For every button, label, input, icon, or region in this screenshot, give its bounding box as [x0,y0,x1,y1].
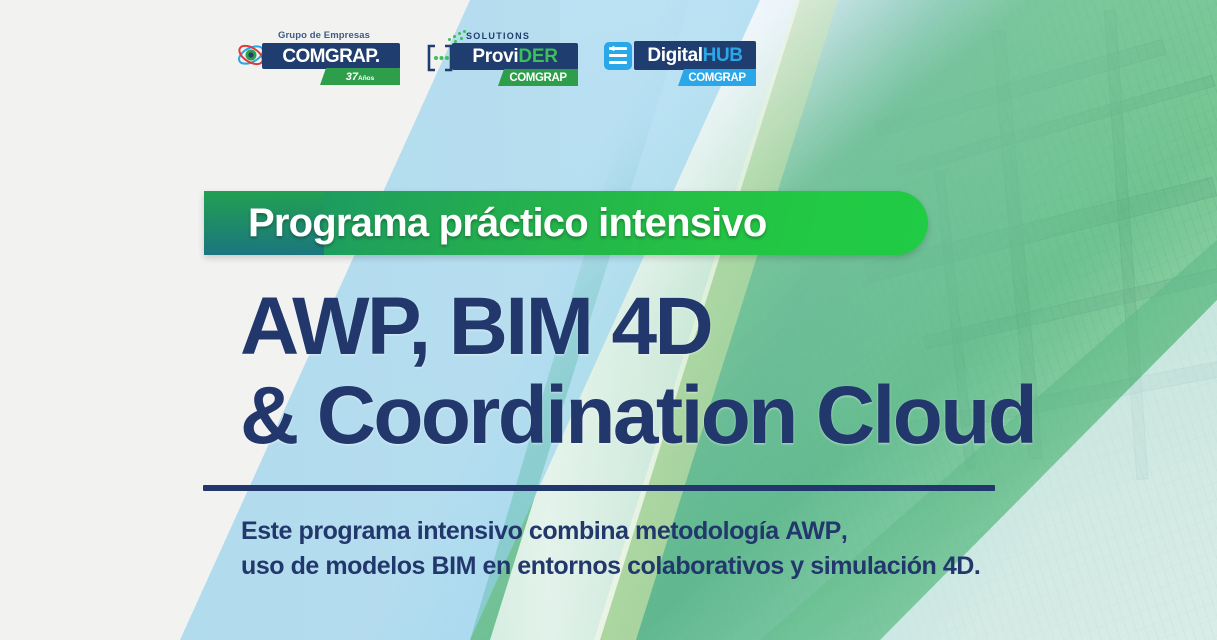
subtitle-l1-c: , [841,517,848,545]
logo-provider-badge-text: COMGRAP [509,72,566,84]
subtitle-l1-highlight: AWP [785,517,841,545]
logo-comgrap-tagline: Grupo de Empresas [278,30,370,41]
subtitle-line-1: Este programa intensivo combina metodolo… [241,514,980,549]
logo-provider-wordmark-accent: DER [518,46,557,67]
logo-digitalhub-wordmark-primary: Digital [647,45,702,66]
headline-divider [203,485,995,491]
headline-line-1: AWP, BIM 4D [240,283,1035,372]
subtitle-l2-highlight-4d: simulación 4D [810,552,974,580]
page-title: AWP, BIM 4D & Coordination Cloud [240,283,1035,460]
subtitle-line-2: uso de modelos BIM en entornos colaborat… [241,549,980,584]
logo-bar: Grupo de Empresas COMGRAP. 37Años [236,30,756,88]
eyebrow-banner: Programa práctico intensivo [204,191,928,255]
logo-comgrap-anniversary-badge: 37Años [320,68,400,85]
logo-provider[interactable]: SOLUTIONS ProviDER COMGRAP [426,30,578,88]
subtitle: Este programa intensivo combina metodolo… [241,514,980,583]
bracket-dots-icon [426,44,454,72]
logo-provider-wordmark-primary: Provi [472,46,518,67]
logo-provider-badge: COMGRAP [498,69,578,86]
logo-digitalhub-plate: DigitalHUB [634,41,756,70]
logo-digitalhub-wordmark-accent: HUB [703,45,743,66]
logo-comgrap-badge-suffix: Años [358,75,374,82]
subtitle-l1-a: Este programa intensivo combina metodolo… [241,517,785,545]
logo-digitalhub[interactable]: DigitalHUB COMGRAP [604,30,756,88]
subtitle-l2-a: uso de modelos [241,552,432,580]
logo-comgrap-wordmark: COMGRAP. [282,47,379,66]
server-network-icon [604,42,632,70]
logo-provider-tagline: SOLUTIONS [466,31,530,41]
logo-digitalhub-badge-text: COMGRAP [688,72,745,84]
dots-icon [448,30,468,42]
logo-comgrap-plate: COMGRAP. [262,43,400,69]
promo-banner: Grupo de Empresas COMGRAP. 37Años [0,0,1217,640]
subtitle-l2-highlight-bim: BIM [432,552,476,580]
logo-digitalhub-badge: COMGRAP [678,69,756,86]
eyebrow-label: Programa práctico intensivo [248,201,767,246]
subtitle-l2-e: . [974,552,981,580]
logo-comgrap-badge-number: 37 [346,71,358,83]
logo-comgrap[interactable]: Grupo de Empresas COMGRAP. 37Años [236,30,400,88]
logo-provider-plate: ProviDER [452,43,578,70]
headline-line-2: & Coordination Cloud [240,372,1035,461]
subtitle-l2-c: en entornos colaborativos y [476,552,810,580]
